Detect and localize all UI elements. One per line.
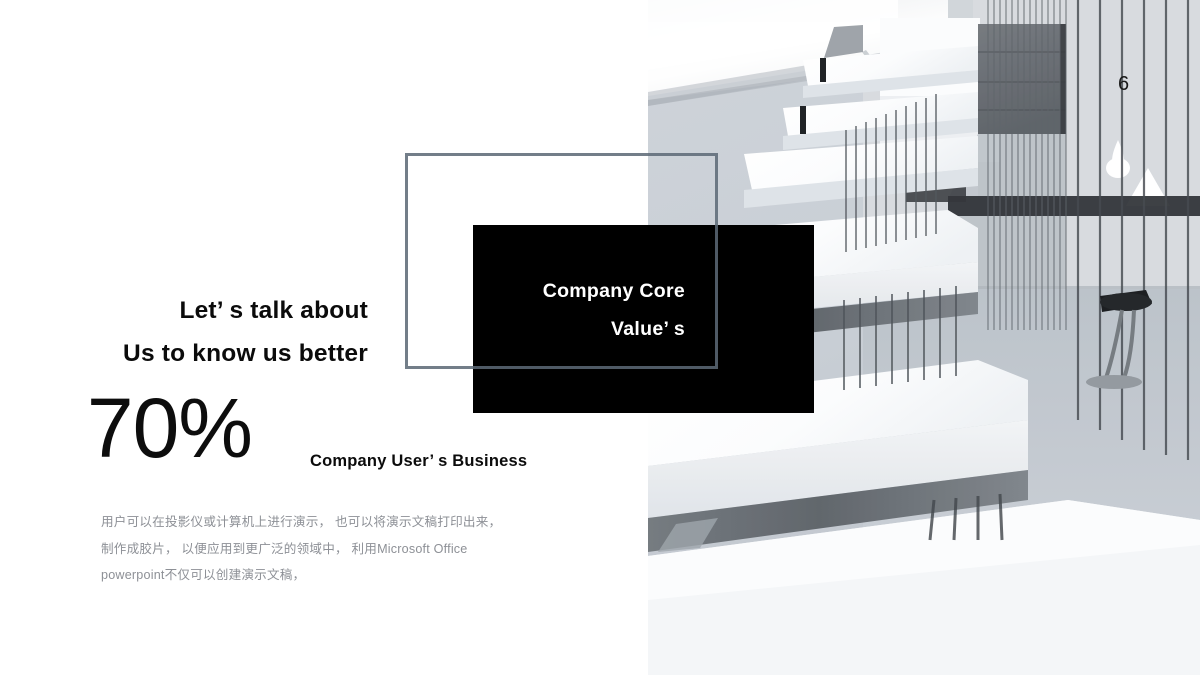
body-paragraph: 用户可以在投影仪或计算机上进行演示， 也可以将演示文稿打印出来， 制作成胶片， …	[101, 509, 531, 589]
page-number: 6	[1118, 74, 1129, 94]
body-line-1: 用户可以在投影仪或计算机上进行演示， 也可以将演示文稿打印出来，	[101, 509, 531, 536]
stat-value: 70%	[0, 386, 252, 470]
body-line-3: powerpoint不仅可以创建演示文稿，	[101, 562, 531, 589]
callout-box: Company Core Value’ s	[473, 225, 814, 413]
stat-caption: Company User’ s Business	[310, 452, 527, 471]
body-line-2: 制作成胶片， 以便应用到更广泛的领域中， 利用Microsoft Office	[101, 536, 531, 563]
callout-text: Company Core Value’ s	[473, 272, 685, 348]
callout-line-1: Company Core	[473, 272, 685, 310]
callout-line-2: Value’ s	[473, 310, 685, 348]
presentation-slide: 6 Let’ s talk about Us to know us better…	[0, 0, 1200, 675]
headline: Let’ s talk about Us to know us better	[0, 289, 368, 375]
headline-line-2: Us to know us better	[0, 332, 368, 375]
headline-line-1: Let’ s talk about	[0, 289, 368, 332]
